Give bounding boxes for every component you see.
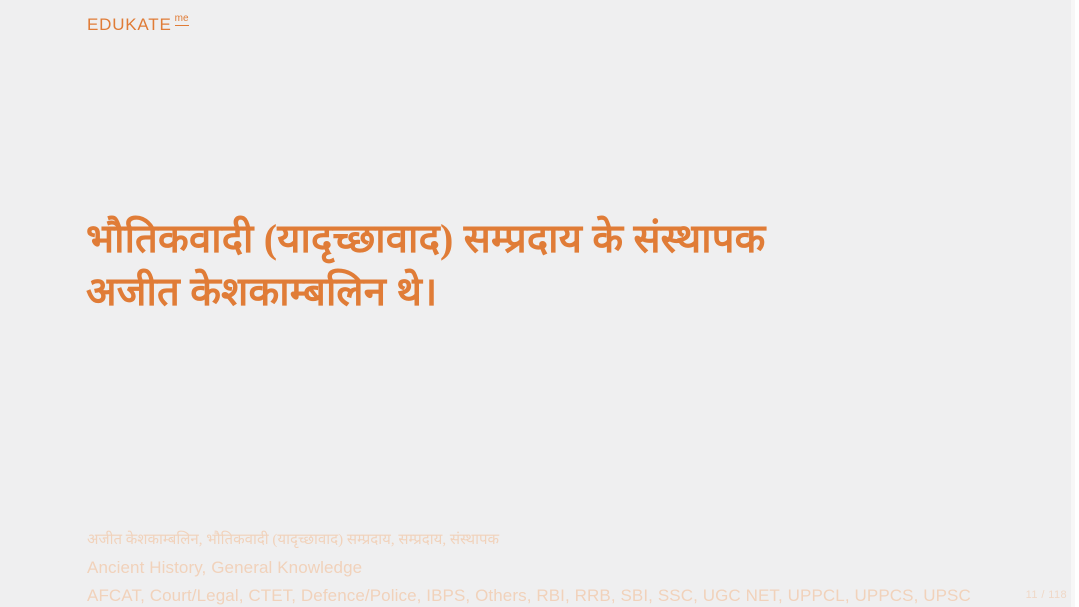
slide-canvas: EDUKATE me भौतिकवादी (यादृच्छावाद) सम्प्… bbox=[0, 0, 1075, 607]
brand-logo[interactable]: EDUKATE me bbox=[87, 16, 189, 33]
brand-logo-word: EDUKATE bbox=[87, 16, 172, 33]
brand-logo-superscript: me bbox=[175, 14, 189, 26]
footer-metadata: अजीत केशकाम्बलिन, भौतिकवादी (यादृच्छावाद… bbox=[87, 522, 1047, 604]
heading-line-1: भौतिकवादी (यादृच्छावाद) सम्प्रदाय के संस… bbox=[86, 213, 986, 266]
footer-subjects: Ancient History, General Knowledge bbox=[87, 559, 1047, 576]
page-watermark: 11 / 118 bbox=[1026, 589, 1067, 601]
footer-tags: अजीत केशकाम्बलिन, भौतिकवादी (यादृच्छावाद… bbox=[87, 533, 1047, 548]
slide-heading: भौतिकवादी (यादृच्छावाद) सम्प्रदाय के संस… bbox=[86, 213, 986, 319]
heading-line-2: अजीत केशकाम्बलिन थे। bbox=[86, 266, 986, 319]
right-edge-strip bbox=[1071, 0, 1075, 607]
footer-exams: AFCAT, Court/Legal, CTET, Defence/Police… bbox=[87, 587, 1047, 604]
